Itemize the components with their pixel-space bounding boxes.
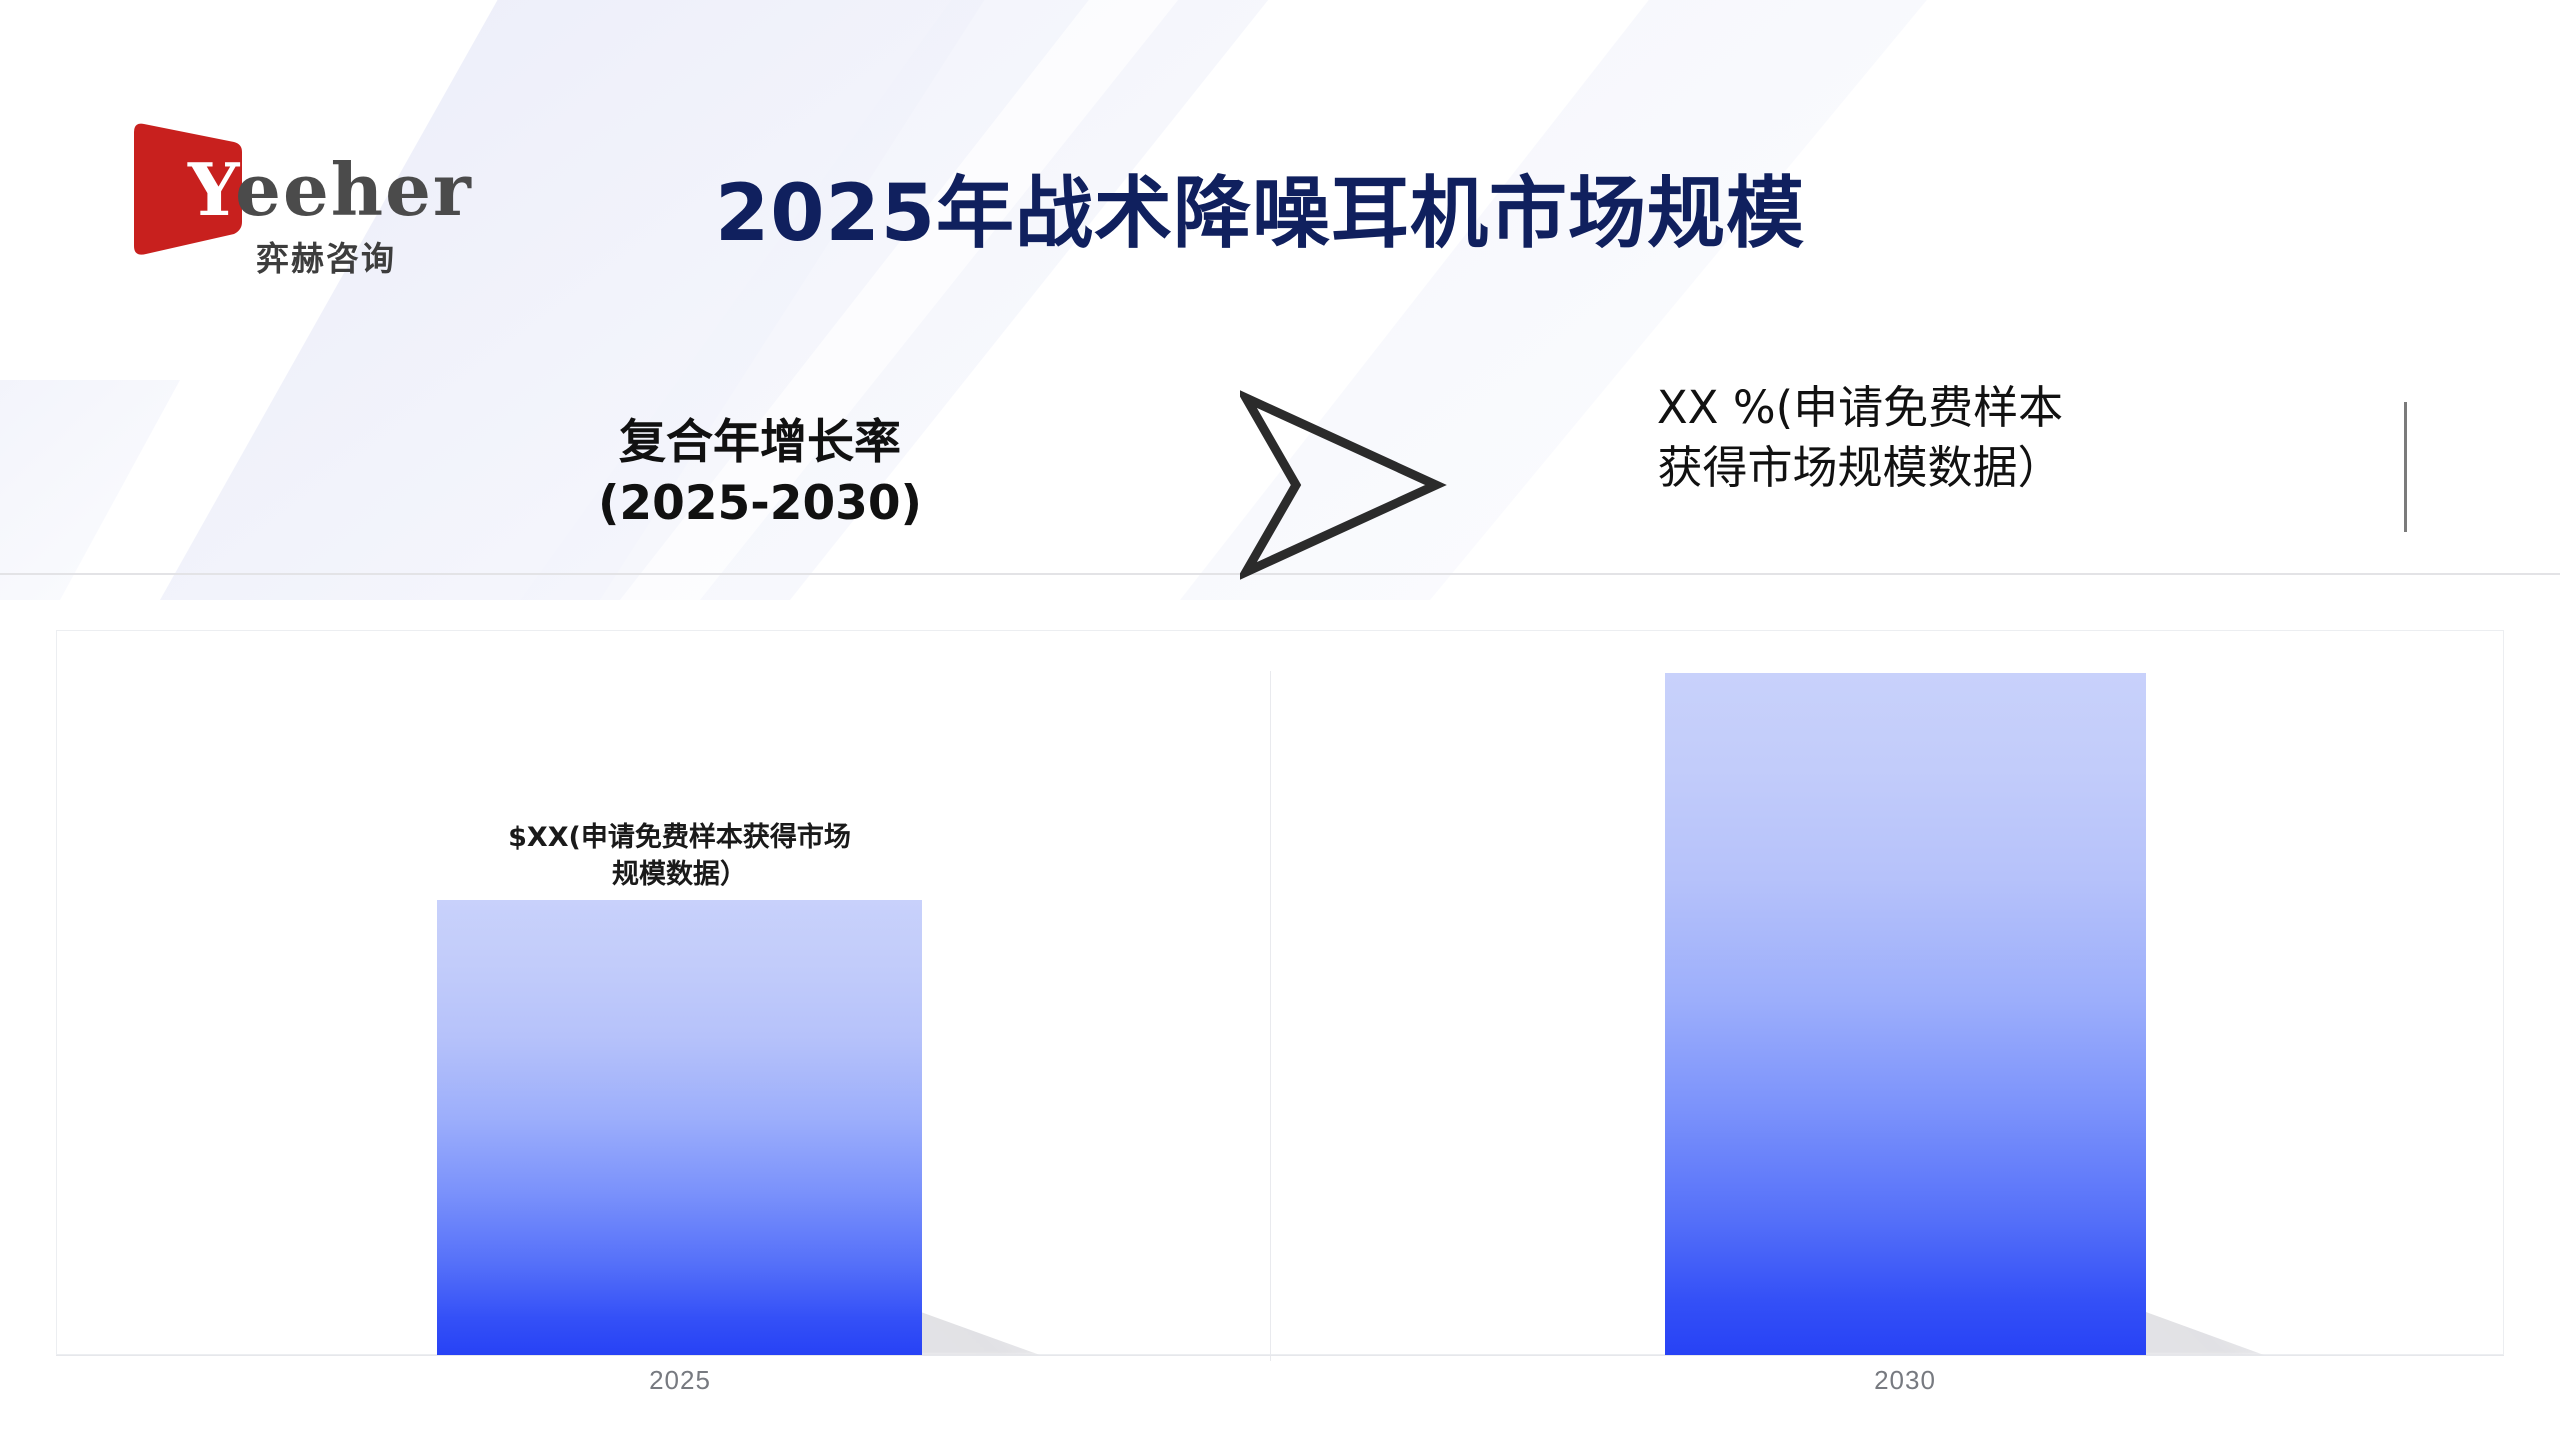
- bar-label-2025: $XX(申请免费样本获得市场 规模数据）: [450, 820, 910, 893]
- logo-wordmark-initial: Y: [188, 147, 235, 232]
- cagr-label: 复合年增长率 (2025-2030): [430, 412, 1090, 534]
- cagr-label-line1: 复合年增长率: [430, 412, 1090, 473]
- chart-baseline: [56, 1355, 2504, 1356]
- cagr-value: XX %(申请免费样本 获得市场规模数据）: [1600, 378, 2120, 498]
- cagr-value-line1: XX %(申请免费样本: [1600, 378, 2120, 438]
- cagr-value-line2: 获得市场规模数据）: [1600, 438, 2120, 498]
- bar-group-2025: $XX(申请免费样本获得市场 规模数据）: [437, 630, 922, 1355]
- bar-2025[interactable]: [437, 900, 922, 1355]
- x-axis-tick-2030: 2030: [1755, 1365, 2055, 1396]
- right-vertical-rule: [2404, 402, 2407, 532]
- chart-column-divider: [1270, 671, 1271, 1361]
- market-size-bar-chart: $XX(申请免费样本获得市场 规模数据） 2025 2030: [0, 575, 2560, 1440]
- logo-chinese-name: 弈赫咨询: [256, 242, 396, 275]
- x-axis-tick-2025: 2025: [530, 1365, 830, 1396]
- logo-wordmark: Yeeher: [188, 154, 473, 226]
- bar-2030[interactable]: [1665, 673, 2146, 1355]
- arrow-right-outline-icon: [1240, 390, 1450, 580]
- bar-group-2030: [1665, 630, 2146, 1355]
- page-title: 2025年战术降噪耳机市场规模: [560, 168, 1960, 262]
- logo-wordmark-rest: eeher: [235, 147, 473, 232]
- brand-logo: Yeeher 弈赫咨询: [126, 108, 486, 288]
- bar-wrap-2025: $XX(申请免费样本获得市场 规模数据）: [437, 900, 922, 1355]
- bar-wrap-2030: [1665, 673, 2146, 1355]
- cagr-label-line2: (2025-2030): [430, 473, 1090, 534]
- bar-label-2025-line2: 规模数据）: [450, 857, 910, 893]
- bar-label-2025-line1: $XX(申请免费样本获得市场: [450, 820, 910, 856]
